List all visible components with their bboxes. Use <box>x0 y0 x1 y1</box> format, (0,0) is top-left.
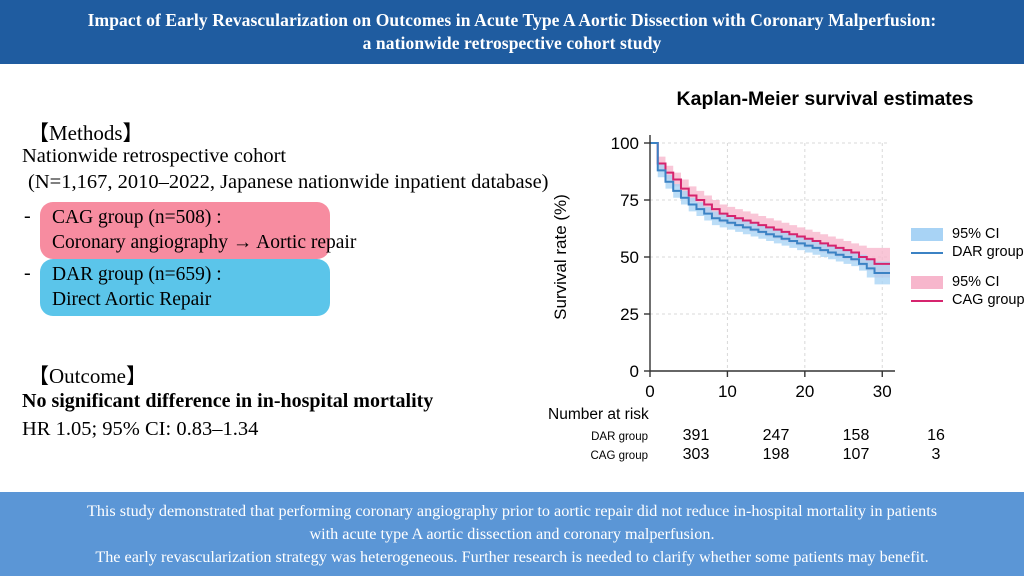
group-list: - CAG group (n=508) : Coronary angiograp… <box>22 202 442 316</box>
conclusion-line-3: The early revascularization strategy was… <box>95 546 928 569</box>
legend-entry-dar-ci: 95% CI <box>911 225 1024 243</box>
legend-label-cag: CAG group <box>952 292 1024 308</box>
kaplan-meier-chart-panel: Kaplan-Meier survival estimates 02550751… <box>540 78 1024 478</box>
conclusion-banner: This study demonstrated that performing … <box>0 492 1024 576</box>
cag-group-desc: Coronary angiography → Aortic repair <box>52 230 318 255</box>
legend-entry-dar-line: DAR group <box>911 243 1024 261</box>
svg-text:Survival rate (%): Survival rate (%) <box>551 194 570 320</box>
legend-label-dar-ci: 95% CI <box>952 226 1000 242</box>
legend-label-dar: DAR group <box>952 244 1024 260</box>
legend-entry-cag-ci: 95% CI <box>911 273 1024 291</box>
dar-group-title: DAR group (n=659) : <box>52 262 318 287</box>
risk-value: 3 <box>896 446 976 464</box>
svg-text:30: 30 <box>873 382 892 401</box>
bullet-dash-cag: - <box>22 202 40 230</box>
number-at-risk-title: Number at risk <box>548 406 649 424</box>
cag-group-box: CAG group (n=508) : Coronary angiography… <box>40 202 330 259</box>
outcome-heading: 【Outcome】 <box>28 360 147 390</box>
legend-band-swatch-blue <box>911 228 943 241</box>
svg-text:10: 10 <box>718 382 737 401</box>
dar-group-desc: Direct Aortic Repair <box>52 287 318 312</box>
outcome-hazard-ratio: HR 1.05; 95% CI: 0.83–1.34 <box>22 418 258 441</box>
risk-value: 16 <box>896 427 976 445</box>
svg-text:100: 100 <box>611 134 639 153</box>
legend-line-swatch-blue <box>911 246 943 259</box>
table-row: DAR group 391 247 158 16 <box>578 427 948 446</box>
svg-text:25: 25 <box>620 305 639 324</box>
chart-legend: 95% CI DAR group 95% CI CAG group <box>911 225 1024 321</box>
risk-row-label-dar: DAR group <box>578 431 656 443</box>
risk-value: 303 <box>656 446 736 464</box>
title-banner: Impact of Early Revascularization on Out… <box>0 0 1024 64</box>
methods-heading: 【Methods】 <box>28 117 144 147</box>
cag-group-title: CAG group (n=508) : <box>52 205 318 230</box>
group-row-cag: - CAG group (n=508) : Coronary angiograp… <box>22 202 442 259</box>
legend-entry-cag-line: CAG group <box>911 291 1024 309</box>
risk-value: 107 <box>816 446 896 464</box>
svg-text:Length of stay (days): Length of stay (days) <box>699 406 858 408</box>
svg-text:0: 0 <box>645 382 654 401</box>
risk-value: 158 <box>816 427 896 445</box>
bullet-dash-dar: - <box>22 259 40 287</box>
methods-cohort-line: Nationwide retrospective cohort <box>22 145 286 168</box>
svg-text:20: 20 <box>795 382 814 401</box>
group-row-dar: - DAR group (n=659) : Direct Aortic Repa… <box>22 259 442 316</box>
legend-band-swatch-pink <box>911 276 943 289</box>
risk-value: 391 <box>656 427 736 445</box>
title-line-1: Impact of Early Revascularization on Out… <box>88 9 937 32</box>
legend-label-cag-ci: 95% CI <box>952 274 1000 290</box>
risk-value: 198 <box>736 446 816 464</box>
svg-text:50: 50 <box>620 248 639 267</box>
table-row: CAG group 303 198 107 3 <box>578 446 948 465</box>
svg-text:0: 0 <box>630 362 639 381</box>
svg-text:75: 75 <box>620 191 639 210</box>
conclusion-line-2: with acute type A aortic dissection and … <box>309 523 714 546</box>
outcome-main-result: No significant difference in in-hospital… <box>22 390 433 413</box>
title-line-2: a nationwide retrospective cohort study <box>363 32 662 55</box>
number-at-risk-table: DAR group 391 247 158 16 CAG group 303 1… <box>578 427 948 465</box>
risk-value: 247 <box>736 427 816 445</box>
left-content-column: 【Methods】 Nationwide retrospective cohor… <box>0 70 545 480</box>
legend-group-dar: 95% CI DAR group <box>911 225 1024 261</box>
risk-row-label-cag: CAG group <box>578 450 656 462</box>
dar-group-box: DAR group (n=659) : Direct Aortic Repair <box>40 259 330 316</box>
legend-line-swatch-pink <box>911 294 943 307</box>
conclusion-line-1: This study demonstrated that performing … <box>87 500 937 523</box>
methods-database-line: (N=1,167, 2010–2022, Japanese nationwide… <box>28 171 549 194</box>
legend-group-cag: 95% CI CAG group <box>911 273 1024 309</box>
